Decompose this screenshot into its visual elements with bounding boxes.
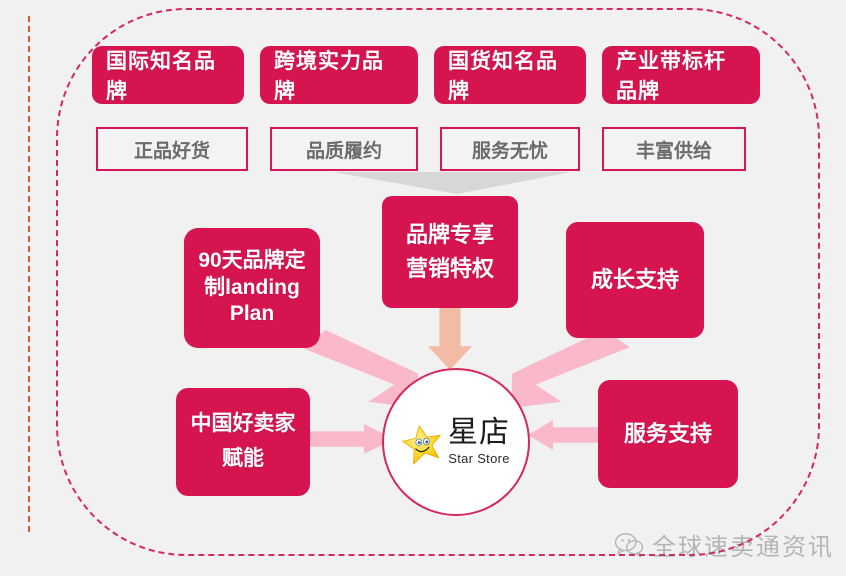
benefit-card-seller-empowerment[interactable]: 中国好卖家 赋能 xyxy=(176,388,310,496)
center-star-store-badge[interactable]: 星店 Star Store xyxy=(382,368,530,516)
benefit-card-landing-plan[interactable]: 90天品牌定 制landing Plan xyxy=(184,228,320,348)
wechat-icon xyxy=(614,532,644,558)
quality-tag-quality-fulfillment[interactable]: 品质履约 xyxy=(270,127,418,171)
quality-tag-worry-free-service[interactable]: 服务无忧 xyxy=(440,127,580,171)
quality-tag-row: 正品好货 品质履约 服务无忧 丰富供给 xyxy=(96,127,746,171)
benefit-card-marketing-line1: 品牌专享 xyxy=(406,218,494,252)
benefit-card-landing-line3: Plan xyxy=(230,301,274,328)
brand-tag-cross-border[interactable]: 跨境实力品牌 xyxy=(260,46,418,104)
center-title-cn: 星店 xyxy=(448,418,510,448)
brand-tag-domestic[interactable]: 国货知名品牌 xyxy=(434,46,586,104)
infographic-canvas: 国际知名品牌 跨境实力品牌 国货知名品牌 产业带标杆品牌 正品好货 品质履约 服… xyxy=(0,0,846,576)
benefit-card-seller-line2: 赋能 xyxy=(222,442,264,477)
benefit-card-marketing-line2: 营销特权 xyxy=(406,252,494,286)
benefit-card-seller-line1: 中国好卖家 xyxy=(191,407,296,442)
quality-tag-rich-supply[interactable]: 丰富供给 xyxy=(602,127,746,171)
benefit-card-landing-line1: 90天品牌定 xyxy=(198,248,305,275)
benefit-card-marketing-privilege[interactable]: 品牌专享 营销特权 xyxy=(382,196,518,308)
benefit-card-service-line1: 服务支持 xyxy=(624,420,712,448)
decorative-dashed-vertical-line xyxy=(28,16,30,532)
brand-tag-row: 国际知名品牌 跨境实力品牌 国货知名品牌 产业带标杆品牌 xyxy=(92,46,760,104)
brand-tag-international[interactable]: 国际知名品牌 xyxy=(92,46,244,104)
benefit-card-landing-line2: 制landing xyxy=(204,275,300,302)
benefit-card-growth-support[interactable]: 成长支持 xyxy=(566,222,704,338)
brand-tag-industrial-belt[interactable]: 产业带标杆品牌 xyxy=(602,46,760,104)
quality-tag-genuine-goods[interactable]: 正品好货 xyxy=(96,127,248,171)
benefit-card-service-support[interactable]: 服务支持 xyxy=(598,380,738,488)
smiling-star-icon xyxy=(402,423,444,465)
benefit-card-growth-line1: 成长支持 xyxy=(591,266,679,294)
watermark: 全球速卖通资讯 xyxy=(614,527,834,562)
center-title-en: Star Store xyxy=(448,451,510,466)
watermark-text: 全球速卖通资讯 xyxy=(652,527,834,562)
